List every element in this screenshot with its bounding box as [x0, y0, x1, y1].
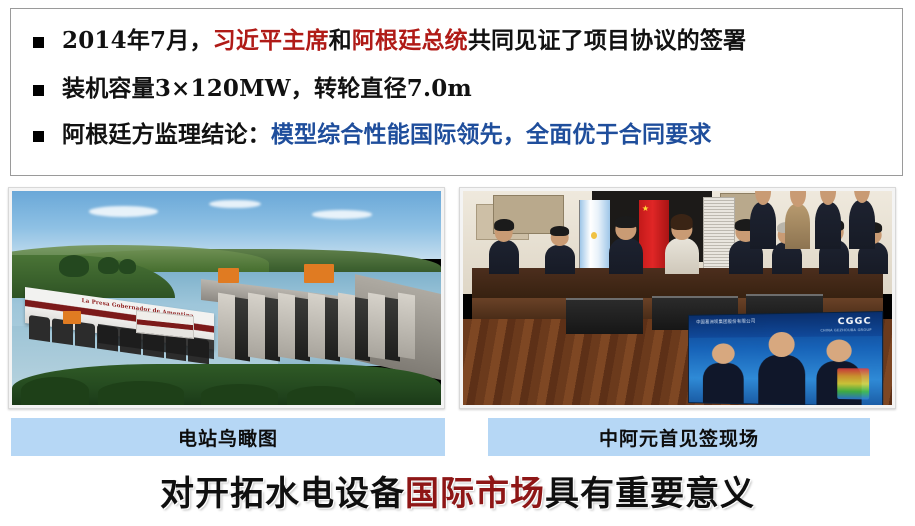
standing-attendee: [785, 204, 811, 249]
spillway-pier: [368, 292, 385, 359]
bullet-segment: ，转轮直径: [291, 76, 407, 102]
bush-icon: [287, 386, 356, 405]
bullet-segment: 7: [150, 27, 166, 54]
person-hair: [670, 214, 693, 230]
tree-icon: [119, 259, 136, 274]
bottom-title-highlight: 国际市场: [405, 474, 545, 514]
person-figure: [545, 245, 575, 275]
person-head: [768, 332, 795, 357]
bullet-row-2-text: 装机容量3×120MW，转轮直径7.0m: [62, 75, 472, 104]
bush-icon: [21, 377, 90, 405]
bullet-segment: 年: [127, 28, 150, 54]
person-figure: [785, 204, 811, 249]
person-figure: [849, 200, 875, 249]
bullet-segment: 7.0m: [407, 75, 472, 102]
screen-person-figure: [759, 355, 805, 404]
bullet-row-3-text: 阿根廷方监理结论：模型综合性能国际领先，全面优于合同要求: [62, 121, 712, 150]
cloud-icon: [209, 200, 260, 209]
bullet-segment: 3×120MW: [155, 75, 291, 102]
screen-color-bar: [837, 368, 870, 400]
bullet-segment: 共同见证了项目协议的签署: [468, 28, 746, 54]
bush-icon: [201, 384, 278, 405]
intake-bay: [29, 315, 50, 341]
standing-attendee: [849, 200, 875, 249]
spillway-pier: [338, 292, 355, 359]
person-hair: [494, 219, 514, 231]
caption-bar-left: 电站鸟瞰图: [11, 418, 445, 456]
person-head: [790, 191, 806, 207]
bottom-title-segment: 具有重要意义: [545, 474, 755, 514]
cloud-icon: [312, 210, 372, 219]
screen-person-figure: [703, 363, 743, 404]
figure-power-station-aerial: La Presa Gobernador de Amentina: [8, 187, 445, 409]
bullet-segment-highlight: 模型综合性能国际领先，全面优于合同要求: [271, 122, 712, 148]
person-head: [820, 191, 836, 205]
spillway-pier: [308, 292, 325, 359]
bullet-segment: 月，: [166, 28, 212, 54]
standing-attendee: [750, 202, 776, 249]
bullet-segment: 装机容量: [62, 76, 155, 102]
bullet-text-box: 2014年7月，习近平主席和阿根廷总统共同见证了项目协议的签署 装机容量3×12…: [10, 8, 903, 176]
intake-bay: [75, 322, 96, 348]
seated-delegate: [609, 238, 643, 274]
gantry-crane-icon: [304, 264, 334, 283]
gantry-crane-icon: [63, 311, 80, 324]
person-figure: [665, 238, 699, 274]
flag-star: ★: [642, 205, 649, 213]
tree-icon: [98, 257, 119, 274]
caption-right-text: 中阿元首见签现场: [599, 424, 759, 451]
seated-delegate: [545, 245, 575, 275]
person-figure: [815, 202, 841, 249]
person-head: [826, 340, 852, 363]
spillway-pier: [278, 292, 295, 359]
seated-delegate: [489, 240, 519, 274]
square-bullet-icon: [33, 85, 44, 96]
bottom-title: 对开拓水电设备国际市场具有重要意义: [0, 466, 915, 515]
screen-logo-left-text: 中国葛洲坝集团股份有限公司: [696, 319, 755, 326]
person-figure: [489, 240, 519, 274]
signing-ceremony-image: ★: [463, 191, 892, 405]
spillway-pier: [248, 292, 265, 359]
bullet-segment: 和: [329, 28, 352, 54]
square-bullet-icon: [33, 37, 44, 48]
bullet-segment-highlight: 习近平主席: [213, 28, 329, 54]
cloud-icon: [89, 206, 158, 217]
person-hair: [615, 216, 638, 228]
caption-left-text: 电站鸟瞰图: [178, 424, 278, 451]
person-figure: [750, 202, 776, 249]
cggc-logo-subtext: CHINA GEZHOUBA GROUP: [821, 328, 872, 333]
tree-icon: [59, 255, 89, 276]
spillway-pier: [218, 292, 235, 359]
bush-icon: [98, 381, 184, 405]
person-hair: [550, 226, 570, 236]
foreground-table: [566, 298, 643, 334]
spillway-pier: [398, 292, 415, 359]
square-bullet-icon: [33, 131, 44, 142]
person-head: [755, 191, 771, 205]
bullet-segment: 阿根廷方监理结论：: [62, 122, 271, 148]
argentina-flag-icon: [579, 200, 610, 273]
seated-delegate: [665, 238, 699, 274]
bullet-row-3: 阿根廷方监理结论：模型综合性能国际领先，全面优于合同要求: [33, 121, 892, 150]
person-head: [712, 343, 735, 364]
bullet-segment: 2014: [62, 27, 127, 54]
person-figure: [609, 238, 643, 274]
inset-display-screen: 中国葛洲坝集团股份有限公司 CGGC CHINA GEZHOUBA GROUP: [688, 311, 883, 405]
bottom-title-segment: 对开拓水电设备: [160, 474, 405, 514]
bullet-row-1: 2014年7月，习近平主席和阿根廷总统共同见证了项目协议的签署: [33, 27, 892, 56]
bullet-row-1-text: 2014年7月，习近平主席和阿根廷总统共同见证了项目协议的签署: [62, 27, 746, 56]
figure-signing-ceremony: ★: [459, 187, 896, 409]
bullet-row-2: 装机容量3×120MW，转轮直径7.0m: [33, 75, 892, 104]
standing-attendee: [815, 202, 841, 249]
gantry-crane-icon: [218, 268, 239, 283]
bullet-segment-highlight: 阿根廷总统: [352, 28, 468, 54]
cggc-logo-text: CGGC: [838, 316, 872, 327]
power-station-aerial-image: La Presa Gobernador de Amentina: [12, 191, 441, 405]
person-head: [854, 191, 870, 203]
caption-bar-right: 中阿元首见签现场: [488, 418, 870, 456]
